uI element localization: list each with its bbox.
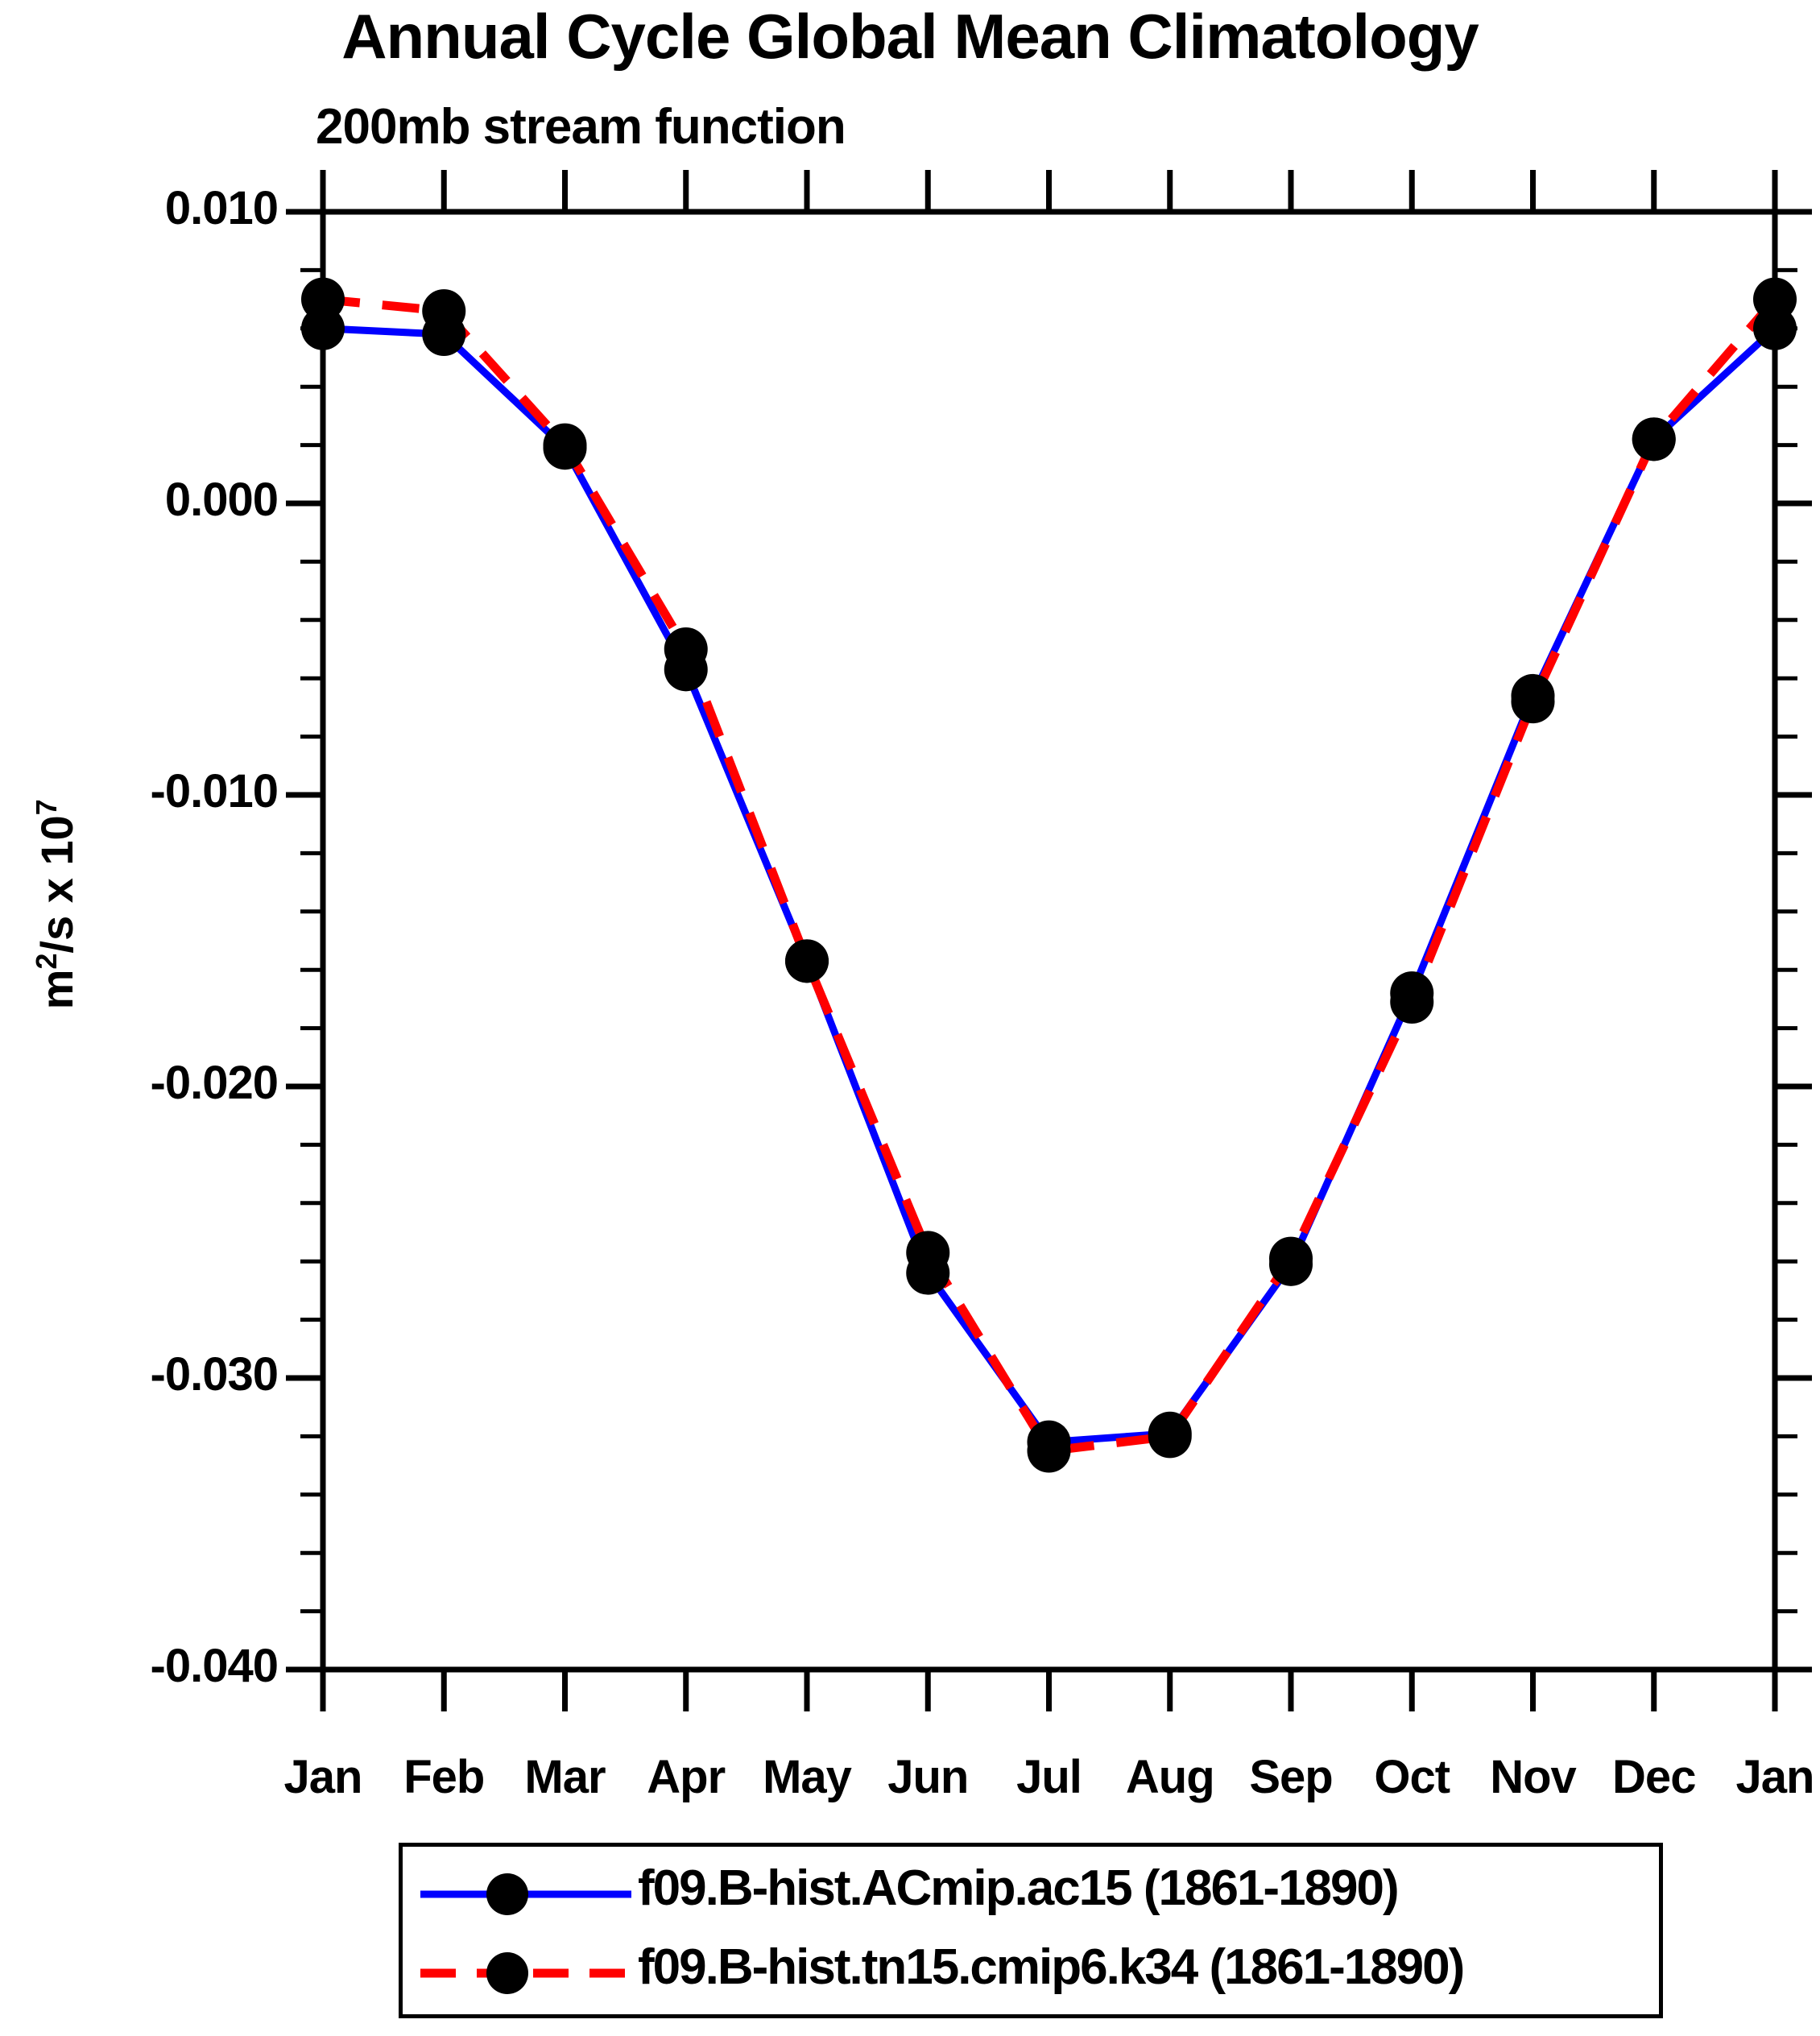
data-point	[1753, 278, 1797, 321]
y-tick-label: -0.020	[36, 1056, 278, 1110]
data-point	[1269, 1237, 1313, 1281]
plot-series-layer	[323, 300, 1775, 1451]
y-tick-label: -0.030	[36, 1347, 278, 1401]
legend: f09.B-hist.ACmip.ac15 (1861-1890) f09.B-…	[399, 1843, 1663, 2018]
chart-page: Annual Cycle Global Mean Climatology 200…	[0, 0, 1820, 2036]
y-tick-label: 0.010	[36, 181, 278, 235]
data-point	[544, 424, 587, 467]
legend-swatch-0	[420, 1858, 631, 1930]
legend-entry-0[interactable]: f09.B-hist.ACmip.ac15 (1861-1890)	[403, 1858, 1667, 1930]
y-tick-label: 0.000	[36, 473, 278, 527]
legend-entry-1[interactable]: f09.B-hist.tn15.cmip6.k34 (1861-1890)	[403, 1937, 1667, 2009]
y-tick-label: -0.010	[36, 764, 278, 818]
series-line-1	[323, 300, 1775, 1451]
plot-canvas	[0, 0, 1820, 2036]
legend-swatch-1	[420, 1937, 631, 2009]
data-point	[1028, 1430, 1071, 1473]
x-tick-label: Jan	[1702, 1750, 1820, 1804]
data-point	[1390, 980, 1433, 1024]
data-point	[664, 627, 708, 671]
data-point	[301, 278, 345, 321]
data-point	[906, 1231, 949, 1274]
data-point	[422, 289, 465, 333]
legend-label-0: f09.B-hist.ACmip.ac15 (1861-1890)	[638, 1860, 1398, 1917]
legend-label-1: f09.B-hist.tn15.cmip6.k34 (1861-1890)	[638, 1939, 1463, 1996]
y-tick-label: -0.040	[36, 1639, 278, 1693]
series-line-0	[323, 329, 1775, 1442]
data-point	[1632, 417, 1676, 461]
data-point	[1148, 1414, 1192, 1458]
data-point	[1512, 680, 1555, 723]
data-point	[785, 939, 829, 983]
plot-marker-layer	[301, 278, 1797, 1473]
